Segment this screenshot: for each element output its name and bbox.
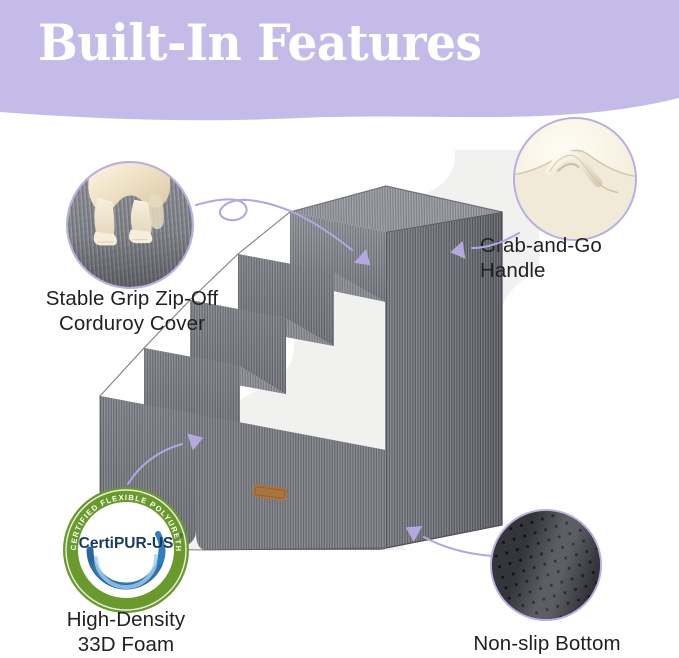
callout-photo-stable-grip[interactable] (66, 161, 194, 289)
badge-registered-mark: ® (179, 533, 184, 540)
callout-label-high-density-foam: High-Density 33D Foam (15, 607, 237, 657)
badge-wordmark: CertiPUR-US (79, 535, 174, 552)
callout-label-non-slip-bottom: Non-slip Bottom (436, 631, 658, 656)
carry-handle-icon (515, 119, 635, 239)
dog-legs-photo (75, 163, 189, 252)
non-slip-fabric-texture (492, 511, 600, 619)
certipur-us-badge[interactable]: CONTAINS CERTIFIED FLEXIBLE POLYURETHANE… (60, 484, 192, 616)
page-title: Built-In Features (38, 15, 482, 70)
callout-photo-grab-and-go[interactable] (513, 117, 637, 241)
callout-label-grab-and-go: Grab-and-Go Handle (480, 233, 676, 283)
callout-photo-non-slip-bottom[interactable] (490, 509, 602, 621)
callout-label-stable-grip: Stable Grip Zip-Off Corduroy Cover (8, 286, 256, 336)
